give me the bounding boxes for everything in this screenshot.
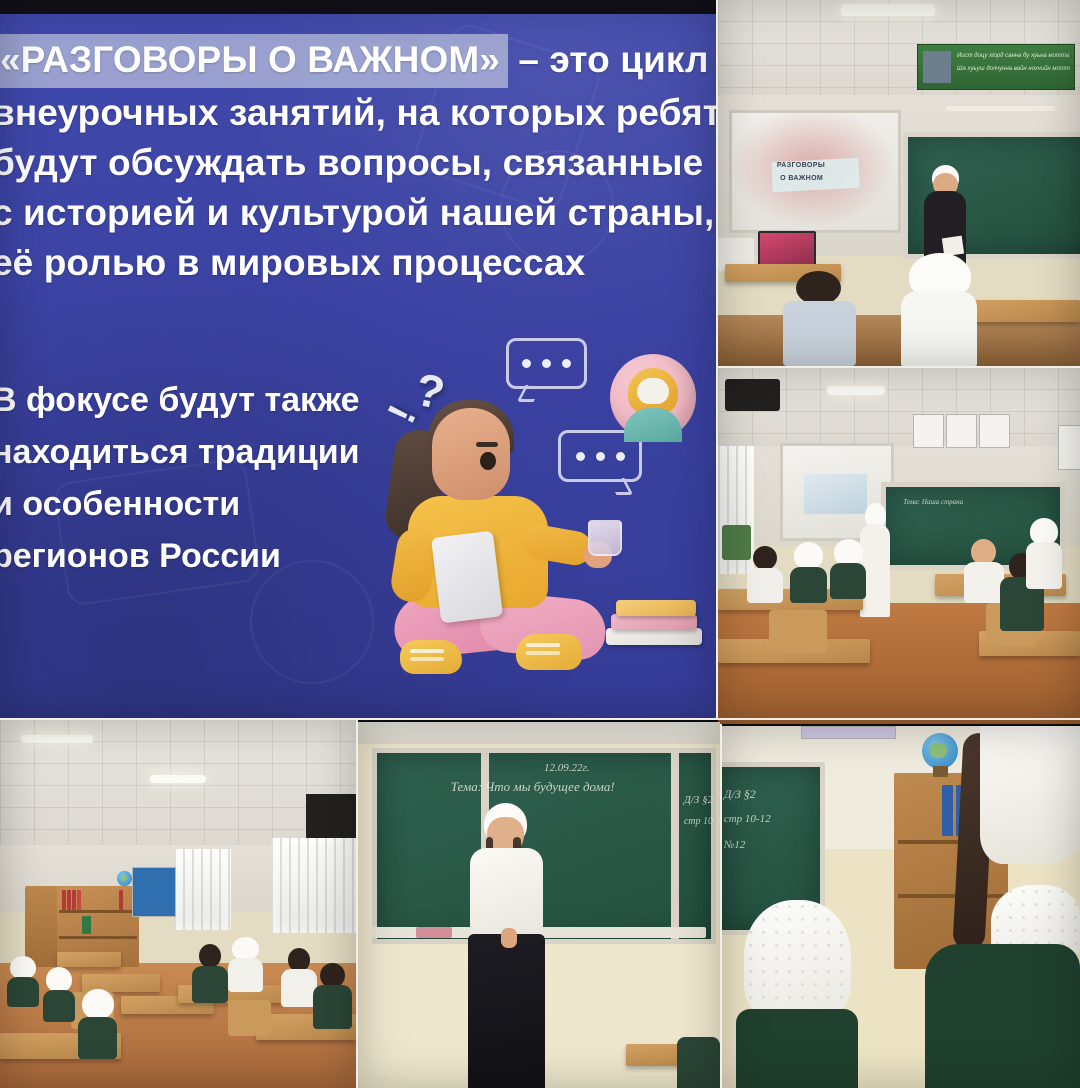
student-uniform: [43, 990, 75, 1022]
student-back-girl: [899, 253, 979, 366]
globe-stand: [933, 766, 947, 777]
board-side-note-1: Д/З §2: [684, 794, 713, 806]
headscarf: [82, 989, 113, 1020]
slide-line-9: регионов России: [0, 530, 360, 582]
photo-student-at-board: 12.09.22г. Тема: Что мы будущее дома! Д/…: [358, 722, 720, 1088]
headscarf: [794, 542, 823, 569]
headscarf: [46, 967, 72, 992]
slide-line-1-rest: – это цикл: [508, 39, 709, 80]
books-stack-icon: [606, 598, 702, 652]
board-divider: [671, 753, 679, 940]
ceiling-lamp: [841, 4, 935, 16]
blinds: [271, 838, 356, 934]
screen-text-line-2: О ВАЖНОМ: [780, 175, 823, 182]
chair: [228, 1000, 271, 1037]
student: [192, 944, 228, 1003]
monitor: [758, 231, 816, 268]
banner-line-1: Иист доцу хlорд санна бу хуьна мотта: [957, 53, 1069, 59]
tablet-icon: [431, 531, 503, 624]
window: [174, 849, 231, 930]
eraser: [416, 927, 452, 938]
collage-seam: [0, 718, 1080, 720]
black-skirt: [468, 934, 544, 1088]
student: [78, 989, 117, 1059]
student-uniform: [830, 563, 866, 599]
girl-eyebrow: [476, 442, 498, 447]
student-shirt: [783, 301, 855, 366]
window: [271, 838, 356, 934]
slide-line-7: находиться традиции: [0, 426, 360, 478]
student-head: [288, 948, 310, 972]
collage-seam: [716, 0, 718, 720]
collage-seam: [720, 724, 722, 1088]
student-shirt: [747, 568, 783, 603]
slide-paragraph-1: «РАЗГОВОРЫ О ВАЖНОМ» – это цикл внеурочн…: [0, 34, 718, 288]
student: [7, 956, 39, 1008]
collage-seam: [718, 366, 1080, 368]
book-pink: [611, 614, 697, 630]
student: [43, 967, 75, 1022]
board-side-note-2: стр 10-12: [684, 816, 720, 827]
student-foreground-right: [908, 885, 1080, 1088]
cup-icon: [588, 520, 622, 556]
student: [1026, 518, 1062, 589]
girl-figure: [388, 378, 638, 698]
slide-top-letterbox: [0, 0, 718, 14]
student-head: [971, 539, 996, 565]
wall-poster: [1058, 425, 1080, 470]
girl-head: [432, 408, 510, 500]
ceiling-lamp: [21, 735, 92, 743]
banner-portrait: [923, 51, 951, 83]
student-uniform: [7, 977, 39, 1007]
ceiling-projector: [725, 379, 779, 411]
student: [313, 963, 352, 1029]
slide-highlight-phrase: «РАЗГОВОРЫ О ВАЖНОМ»: [0, 34, 508, 88]
slide-line-6: В фокусе будут также: [0, 374, 360, 426]
slide-panel: «РАЗГОВОРЫ О ВАЖНОМ» – это цикл внеурочн…: [0, 0, 718, 718]
folder: [82, 916, 86, 934]
student: [964, 539, 1004, 603]
girl-shoe-left: [400, 640, 462, 674]
photo-classroom-projector: Иист доцу хlорд санна бу хуьна мотта Ша …: [718, 0, 1080, 366]
student-uniform: [925, 944, 1080, 1088]
screen-text-line-1: РАЗГОВОРЫ: [777, 162, 825, 169]
headscarf: [232, 937, 259, 960]
student: [747, 546, 783, 603]
photo-classroom-primary: Тема: Наша страна: [718, 368, 1080, 724]
shelf: [59, 910, 138, 913]
student-blouse: [901, 291, 977, 366]
student-head: [753, 546, 777, 570]
screen-image: [804, 474, 867, 515]
shelf: [59, 936, 138, 939]
globe-icon: [117, 871, 131, 886]
collage-seam: [356, 720, 358, 1088]
student-desk: [57, 952, 121, 967]
folder: [942, 785, 953, 836]
ceiling-projector: [306, 794, 356, 842]
folder: [72, 890, 76, 909]
ceiling-lamp: [827, 386, 885, 395]
student-uniform: [192, 966, 228, 1004]
student-blouse: [228, 958, 264, 992]
homework-line-3: №12: [724, 839, 745, 851]
slide-paragraph-2: В фокусе будут также находиться традиции…: [0, 374, 360, 582]
student-foreground-left: [736, 900, 858, 1088]
folder: [62, 890, 66, 909]
slide-text-block: «РАЗГОВОРЫ О ВАЖНОМ» – это цикл внеурочн…: [0, 34, 718, 288]
wall-poster: [946, 414, 977, 448]
student-uniform: [790, 567, 826, 603]
student: [790, 542, 826, 603]
hands: [501, 928, 517, 948]
projection-screen: РАЗГОВОРЫ О ВАЖНОМ: [729, 110, 902, 233]
lace-pattern: [744, 900, 851, 1021]
student-back-boy: [783, 271, 855, 366]
homework-line-2: стр 10-12: [724, 813, 771, 825]
student: [830, 539, 866, 600]
girl-shoe-right: [516, 634, 582, 670]
book-orange: [616, 600, 696, 616]
student-head: [199, 944, 221, 968]
student-uniform: [313, 985, 352, 1029]
banner-line-2: Ша хуьуш долчунна вайн нохчийн мотт: [957, 66, 1070, 72]
monitor-screen: [760, 233, 814, 266]
avatar-face: [637, 378, 669, 404]
lace-headscarf: [744, 900, 851, 1021]
folder: [67, 890, 71, 909]
homework-line-1: Д/З §2: [724, 787, 756, 802]
student-uniform: [78, 1017, 117, 1059]
book-white: [606, 628, 702, 645]
wall-poster: [801, 726, 896, 739]
fluorescent-lamp: [946, 106, 1055, 111]
student: [228, 937, 264, 992]
wall-top-trim: [358, 722, 720, 744]
white-headscarf-foreground: [980, 726, 1080, 864]
photo-students-back-view: Д/З §2 стр 10-12 №12: [722, 726, 1080, 1088]
green-wall-banner: Иист доцу хlорд санна бу хуьна мотта Ша …: [917, 44, 1075, 90]
student-uniform-foreground: [677, 1037, 720, 1088]
headscarf: [1030, 518, 1058, 545]
folder: [77, 890, 81, 909]
student-presenter: [463, 803, 550, 1088]
headscarf: [10, 956, 36, 980]
chair: [769, 610, 827, 653]
collage-canvas: «РАЗГОВОРЫ О ВАЖНОМ» – это цикл внеурочн…: [0, 0, 1080, 1088]
student-shirt: [281, 969, 317, 1007]
folder: [86, 916, 90, 934]
student-uniform: [736, 1009, 858, 1088]
board-date: 12.09.22г.: [544, 762, 589, 774]
student: [281, 948, 317, 1007]
slide-illustration: ? !: [378, 330, 718, 710]
wall-poster: [132, 867, 177, 917]
girl-eye: [480, 452, 496, 470]
student-blouse: [1026, 542, 1062, 589]
wall-poster: [913, 414, 944, 448]
ceiling-lamp: [150, 775, 207, 783]
photo-classroom-wide: [0, 720, 356, 1088]
student-head: [320, 963, 344, 988]
student-head: [796, 271, 841, 305]
folder: [119, 890, 123, 909]
board-theme: Тема: Что мы будущее дома!: [451, 779, 615, 795]
slide-line-3: будут обсуждать вопросы, связанные: [0, 138, 718, 188]
slide-line-4: с историей и культурой нашей страны,: [0, 188, 718, 238]
slide-line-8: и особенности: [0, 478, 360, 530]
board-chalk-text: Тема: Наша страна: [903, 498, 963, 506]
student-shirt: [964, 562, 1004, 603]
slide-line-2: внеурочных занятий, на которых ребята: [0, 88, 718, 138]
headscarf: [834, 539, 863, 566]
blinds: [174, 849, 231, 930]
wall-poster: [979, 414, 1010, 448]
slide-line-5: её ролью в мировых процессах: [0, 238, 718, 288]
